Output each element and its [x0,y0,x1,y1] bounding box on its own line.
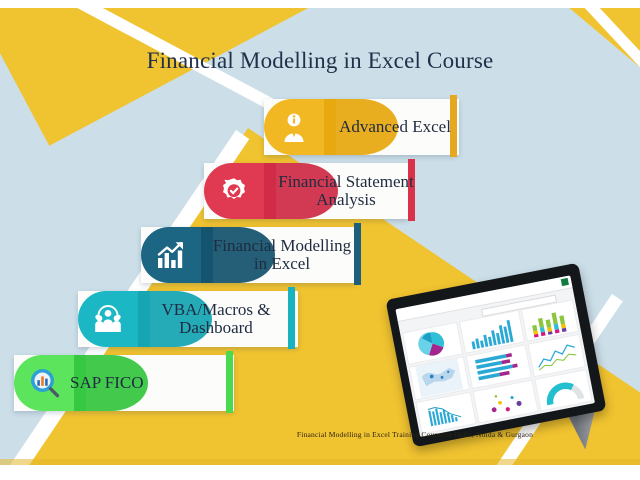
module-item-financial-statement-analysis[interactable]: Financial Statement Analysis [204,163,409,219]
team-people-icon [92,303,124,335]
excel-app-icon [561,278,569,286]
module-accent-bar [226,351,233,413]
module-label: VBA/Macros & Dashboard [126,291,306,347]
module-label: SAP FICO [70,355,220,411]
module-label-text: VBA/Macros & Dashboard [161,301,270,338]
module-label-text: Financial Statement Analysis [278,173,414,210]
magnifier-chart-icon [28,367,60,399]
module-item-sap-fico[interactable]: SAP FICO [14,355,234,411]
gauge-chart [534,369,593,412]
page-title: Financial Modelling in Excel Course [0,48,640,74]
module-label-text: SAP FICO [70,374,144,392]
module-item-advanced-excel[interactable]: Advanced Excel [264,99,459,155]
module-label-text: Advanced Excel [339,118,451,136]
module-label-text: Financial Modelling in Excel [213,237,351,274]
gear-check-icon [218,175,250,207]
module-item-vba-macros-dashboard[interactable]: VBA/Macros & Dashboard [78,291,298,347]
poster-canvas: Financial Modelling in Excel Course [0,0,640,480]
footer-caption: Financial Modelling in Excel Training Co… [290,430,540,441]
bar-chart-arrow-icon [155,239,187,271]
module-label: Financial Modelling in Excel [187,227,377,283]
module-item-financial-modelling-in-excel[interactable]: Financial Modelling in Excel [141,227,356,283]
module-label: Advanced Excel [320,99,470,155]
user-info-icon [278,111,310,143]
module-label: Financial Statement Analysis [256,163,436,219]
